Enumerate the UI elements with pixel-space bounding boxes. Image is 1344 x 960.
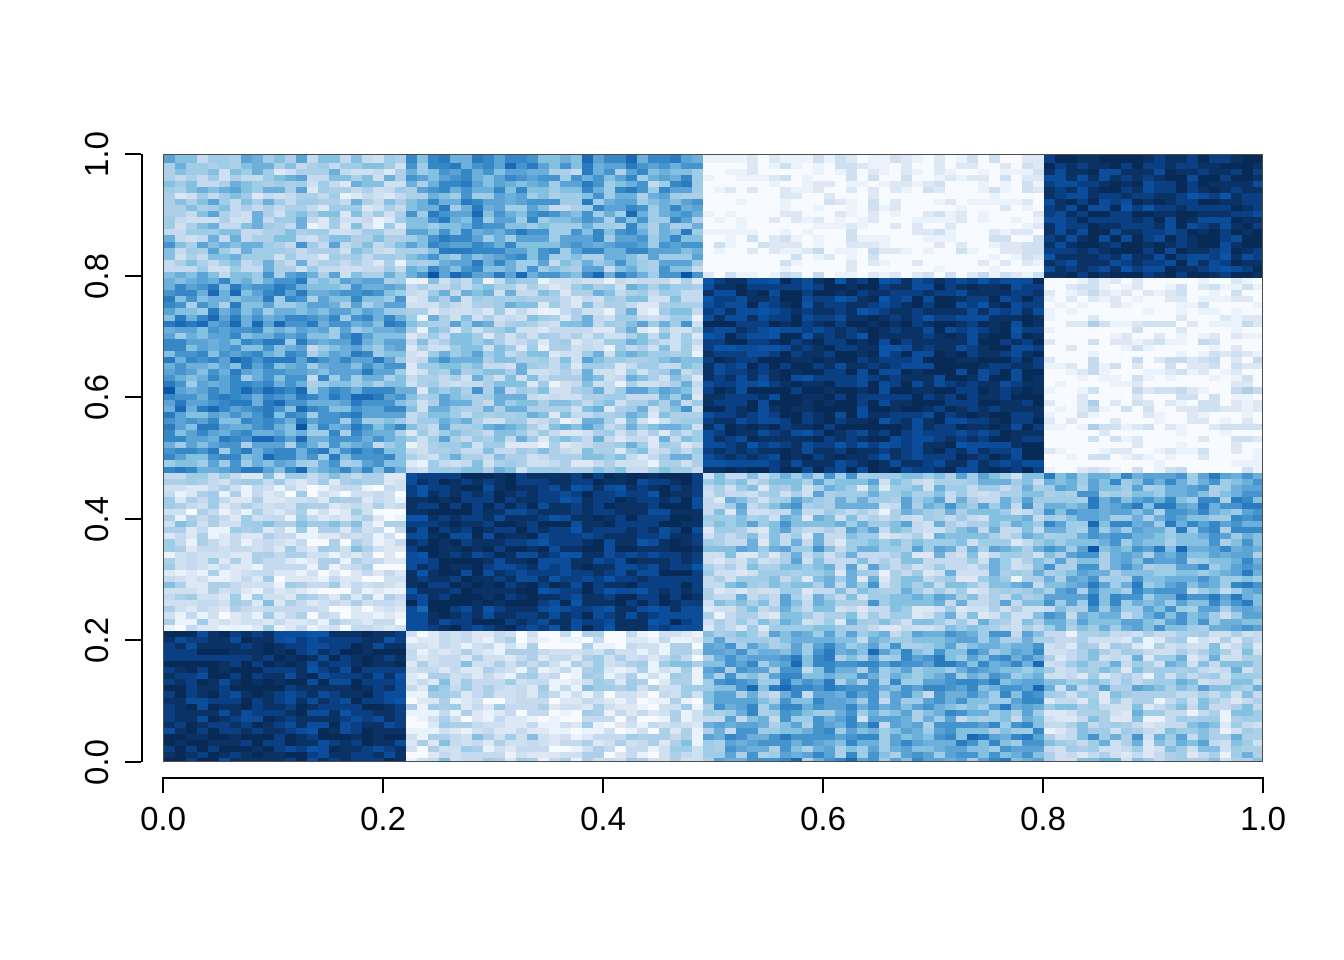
- x-tick-label: 0.6: [800, 800, 846, 838]
- y-tick-label: 0.8: [0, 256, 120, 296]
- y-tick-mark: [125, 275, 141, 277]
- y-tick-label: 0.6: [0, 377, 120, 417]
- x-tick-mark: [822, 777, 824, 793]
- x-tick-mark: [162, 777, 164, 793]
- y-tick-mark: [125, 761, 141, 763]
- x-tick-label: 0.2: [360, 800, 406, 838]
- y-tick-label-text: 0.0: [78, 739, 116, 785]
- x-tick-mark: [1042, 777, 1044, 793]
- x-tick-mark: [382, 777, 384, 793]
- y-tick-label-text: 1.0: [78, 131, 116, 177]
- y-tick-label: 1.0: [0, 134, 120, 174]
- x-axis-line: [163, 777, 1263, 779]
- y-tick-mark: [125, 639, 141, 641]
- y-tick-label-text: 0.4: [78, 496, 116, 542]
- x-tick-label: 1.0: [1240, 800, 1286, 838]
- y-tick-label-text: 0.2: [78, 617, 116, 663]
- y-tick-mark: [125, 396, 141, 398]
- x-tick-label: 0.8: [1020, 800, 1066, 838]
- x-tick-mark: [1262, 777, 1264, 793]
- figure-root: 0.00.20.40.60.81.0 0.00.20.40.60.81.0: [0, 0, 1344, 960]
- x-tick-mark: [602, 777, 604, 793]
- heatmap-plot-area: [163, 154, 1263, 762]
- y-tick-mark: [125, 518, 141, 520]
- x-tick-label: 0.4: [580, 800, 626, 838]
- y-tick-label: 0.4: [0, 499, 120, 539]
- y-tick-label: 0.2: [0, 620, 120, 660]
- y-tick-label: 0.0: [0, 742, 120, 782]
- y-tick-mark: [125, 153, 141, 155]
- heatmap-canvas: [164, 155, 1263, 762]
- x-tick-label: 0.0: [140, 800, 186, 838]
- y-tick-label-text: 0.8: [78, 253, 116, 299]
- y-axis-line: [141, 154, 143, 762]
- y-tick-label-text: 0.6: [78, 374, 116, 420]
